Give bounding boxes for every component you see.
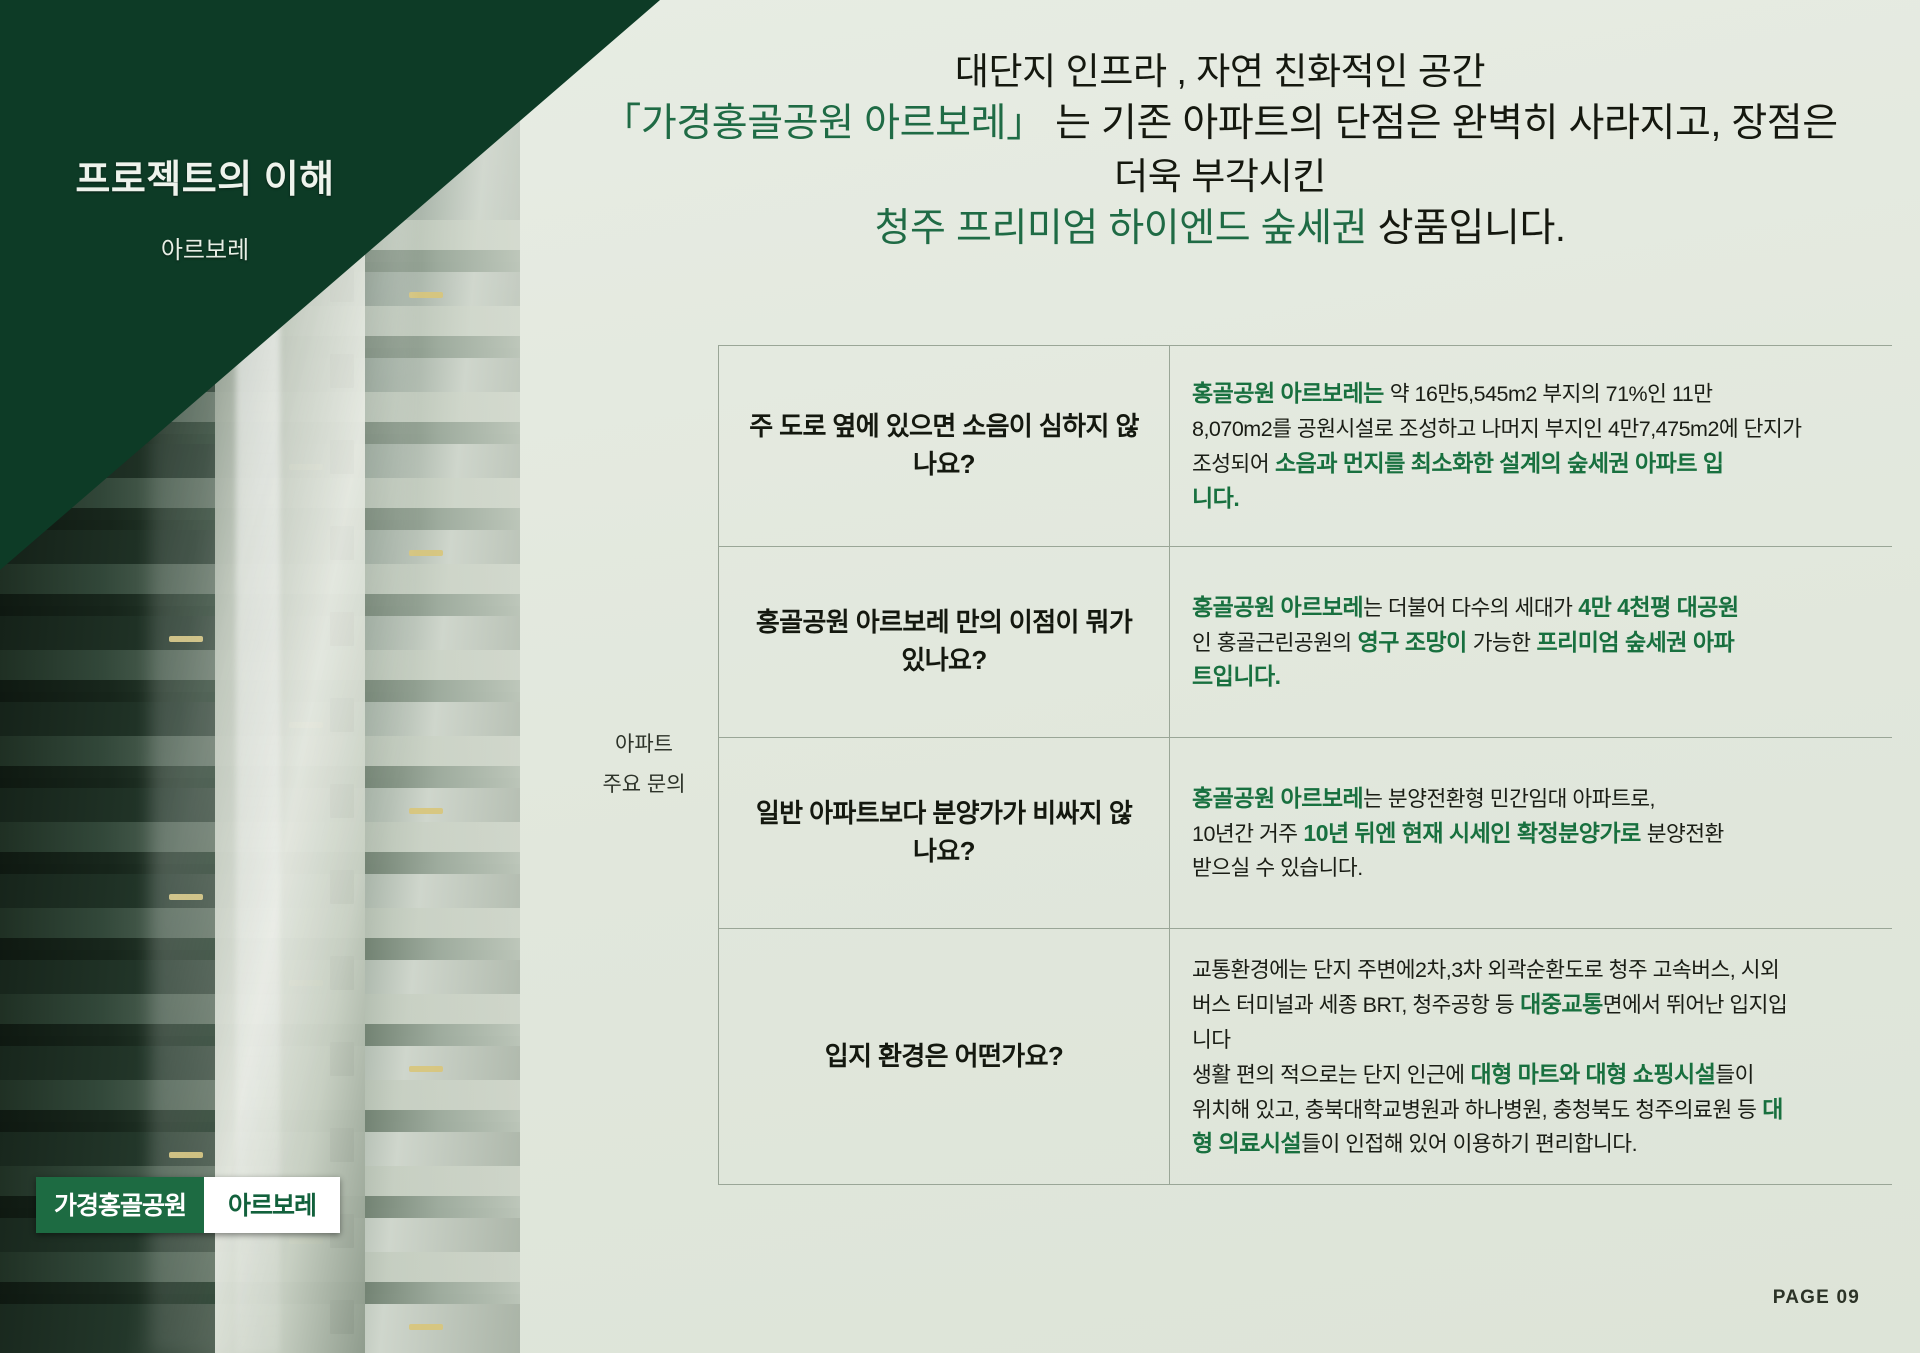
- question-text: 홍골공원 아르보레 만의 이점이 뭐가 있나요?: [719, 578, 1169, 705]
- logo-left-label: 가경홍골공원: [36, 1177, 204, 1233]
- table-row: 입지 환경은 어떤가요? 교통환경에는 단지 주변에2차,3차 외곽순환도로 청…: [570, 929, 1892, 1185]
- table-row: 일반 아파트보다 분양가가 비싸지 않나요? 홍골공원 아르보레는 분양전환형 …: [570, 738, 1892, 929]
- question-cell: 일반 아파트보다 분양가가 비싸지 않나요?: [719, 738, 1170, 929]
- answer-cell: 홍골공원 아르보레는 약 16만5,545m2 부지의 71%인 11만8,07…: [1170, 346, 1893, 547]
- section-subtitle: 아르보레: [0, 230, 410, 265]
- table-row: 아파트 주요 문의 주 도로 옆에 있으면 소음이 심하지 않나요? 홍골공원 …: [570, 346, 1892, 547]
- category-cell: 아파트 주요 문의: [570, 346, 719, 1185]
- section-title: 프로젝트의 이해: [0, 148, 410, 203]
- logo-right-label: 아르보레: [204, 1177, 340, 1233]
- page-number: PAGE 09: [1773, 1287, 1860, 1309]
- question-cell: 주 도로 옆에 있으면 소음이 심하지 않나요?: [719, 346, 1170, 547]
- headline-project-name: 「가경홍골공원 아르보레」: [602, 102, 1044, 145]
- headline-line-4: 청주 프리미엄 하이엔드 숲세권 상품입니다.: [520, 202, 1920, 256]
- question-text: 일반 아파트보다 분양가가 비싸지 않나요?: [719, 769, 1169, 896]
- answer-text: 홍골공원 아르보레는 더불어 다수의 세대가 4만 4천평 대공원인 홍골근린공…: [1170, 567, 1892, 718]
- category-line-2: 주요 문의: [570, 765, 718, 805]
- question-cell: 입지 환경은 어떤가요?: [719, 929, 1170, 1185]
- headline-line-1: 대단지 인프라 , 자연 친화적인 공간: [520, 46, 1920, 97]
- faq-table: 아파트 주요 문의 주 도로 옆에 있으면 소음이 심하지 않나요? 홍골공원 …: [570, 345, 1892, 1185]
- answer-cell: 홍골공원 아르보레는 분양전환형 민간임대 아파트로,10년간 거주 10년 뒤…: [1170, 738, 1893, 929]
- headline-block: 대단지 인프라 , 자연 친화적인 공간 「가경홍골공원 아르보레」 는 기존 …: [520, 46, 1920, 256]
- category-label: 아파트 주요 문의: [570, 725, 718, 805]
- headline-line-2-rest: 는 기존 아파트의 단점은 완벽히 사라지고, 장점은: [1045, 102, 1838, 145]
- headline-line-4-rest: 상품입니다.: [1367, 207, 1565, 250]
- answer-text: 홍골공원 아르보레는 약 16만5,545m2 부지의 71%인 11만8,07…: [1170, 353, 1892, 539]
- headline-tagline-accent: 청주 프리미엄 하이엔드 숲세권: [875, 207, 1368, 250]
- category-line-1: 아파트: [570, 725, 718, 765]
- slide: 프로젝트의 이해 아르보레 가경홍골공원 아르보레 대단지 인프라 , 자연 친…: [0, 0, 1920, 1353]
- project-logo-badge: 가경홍골공원 아르보레: [36, 1177, 340, 1233]
- table-row: 홍골공원 아르보레 만의 이점이 뭐가 있나요? 홍골공원 아르보레는 더불어 …: [570, 547, 1892, 738]
- headline-line-2: 「가경홍골공원 아르보레」 는 기존 아파트의 단점은 완벽히 사라지고, 장점…: [520, 97, 1920, 151]
- question-text: 주 도로 옆에 있으면 소음이 심하지 않나요?: [719, 382, 1169, 509]
- question-text: 입지 환경은 어떤가요?: [719, 1012, 1169, 1102]
- answer-text: 홍골공원 아르보레는 분양전환형 민간임대 아파트로,10년간 거주 10년 뒤…: [1170, 758, 1892, 909]
- answer-text: 교통환경에는 단지 주변에2차,3차 외곽순환도로 청주 고속버스, 시외버스 …: [1170, 929, 1892, 1184]
- content-area: 대단지 인프라 , 자연 친화적인 공간 「가경홍골공원 아르보레」 는 기존 …: [520, 0, 1920, 1353]
- answer-cell: 교통환경에는 단지 주변에2차,3차 외곽순환도로 청주 고속버스, 시외버스 …: [1170, 929, 1893, 1185]
- headline-line-3: 더욱 부각시킨: [520, 151, 1920, 202]
- answer-cell: 홍골공원 아르보레는 더불어 다수의 세대가 4만 4천평 대공원인 홍골근린공…: [1170, 547, 1893, 738]
- question-cell: 홍골공원 아르보레 만의 이점이 뭐가 있나요?: [719, 547, 1170, 738]
